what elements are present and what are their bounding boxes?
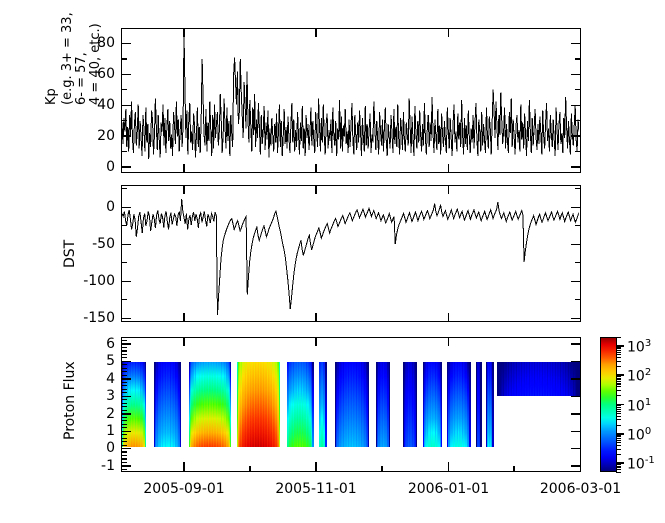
x-tick-major [183, 462, 185, 471]
y-tick-minor [122, 424, 127, 425]
colorbar-tick-label: 102 [627, 366, 651, 384]
y-tick-minor [122, 445, 127, 446]
y-tick-major [122, 135, 131, 136]
y-tick-minor-right [575, 151, 580, 152]
y-tick-minor [122, 378, 127, 379]
panel-dst [121, 185, 581, 322]
heatmap-cell [416, 362, 418, 447]
x-tick-major-top [448, 29, 450, 37]
y-tick-minor [122, 382, 127, 383]
y-tick-major-right [571, 318, 580, 319]
x-tick-major [448, 462, 450, 471]
y-tick-minor [122, 441, 127, 442]
kp-timeseries [122, 29, 579, 171]
y-tick-minor-right [575, 58, 580, 59]
heatmap-band [486, 362, 493, 447]
y-tick-major [122, 281, 131, 282]
heatmap-band [154, 362, 181, 447]
y-tick-major-right [571, 166, 580, 167]
colorbar-tick-minor [616, 413, 621, 414]
colorbar-tick-minor [616, 469, 621, 470]
heatmap-band [335, 362, 369, 447]
heatmap-band [237, 362, 280, 447]
y-tick-minor-right [575, 120, 580, 121]
y-tick-minor [122, 299, 127, 300]
colorbar-tick-minor [616, 445, 621, 446]
y-tick-minor [122, 262, 127, 263]
colorbar [600, 337, 617, 472]
y-tick-major-right [571, 413, 580, 414]
y-tick-minor-right [575, 262, 580, 263]
colorbar-tick-minor [616, 395, 621, 396]
dst-timeseries [122, 186, 579, 320]
y-tick-major-right [571, 135, 580, 136]
heatmap-cell [441, 362, 443, 447]
y-tick-major-right [571, 431, 580, 432]
y-tick-minor [122, 357, 127, 358]
y-tick-minor [122, 361, 127, 362]
y-tick-minor [122, 364, 127, 365]
y-tick-minor [122, 448, 127, 449]
heatmap-cell [325, 362, 327, 447]
y-tick-minor [122, 458, 127, 459]
y-tick-major [122, 244, 131, 245]
heatmap-band [319, 362, 327, 447]
colorbar-tick-minor [616, 337, 621, 338]
kp-y-axis-label-line-2: 6- = 57, [74, 52, 89, 105]
colorbar-tick-minor [616, 381, 621, 382]
x-tick-major-top [580, 338, 582, 346]
y-tick-major-right [571, 343, 580, 344]
colorbar-tick-minor [616, 436, 621, 437]
dst-plot-area [122, 186, 580, 321]
heatmap-band [497, 362, 579, 396]
colorbar-tick-minor [616, 361, 621, 362]
y-tick-minor [122, 403, 127, 404]
y-tick-major [122, 207, 131, 208]
heatmap-cell [312, 362, 314, 447]
heatmap-cell [145, 362, 147, 447]
y-tick-minor [122, 431, 127, 432]
x-tick-label: 2005-11-01 [275, 482, 356, 496]
x-tick-major-top [183, 29, 185, 37]
y-tick-label: 0 [69, 200, 115, 214]
y-tick-minor [122, 371, 127, 372]
y-tick-minor [122, 225, 127, 226]
y-tick-major-right [571, 396, 580, 397]
y-tick-major [122, 74, 131, 75]
x-tick-major [580, 313, 582, 321]
y-tick-minor [122, 385, 127, 386]
x-tick-major-top [183, 186, 185, 194]
colorbar-tick-minor [616, 464, 621, 465]
y-tick-minor-right [575, 225, 580, 226]
heatmap-band [189, 362, 231, 447]
y-tick-minor [122, 417, 127, 418]
y-tick-major-right [571, 378, 580, 379]
y-tick-minor [122, 340, 127, 341]
y-tick-label: 6 [69, 337, 115, 351]
x-tick-minor [249, 466, 250, 471]
y-tick-major [122, 105, 131, 106]
colorbar-tick-minor [616, 449, 621, 450]
panel-kp [121, 28, 581, 173]
heatmap-cell [279, 362, 281, 447]
y-tick-minor [122, 410, 127, 411]
x-tick-major-top [580, 29, 582, 37]
y-tick-major-right [571, 448, 580, 449]
y-tick-minor [122, 151, 127, 152]
heatmap-cell [368, 362, 370, 447]
kp-y-axis-label-line-0: Kp [44, 88, 59, 105]
y-tick-major [122, 43, 131, 44]
y-tick-minor [122, 89, 127, 90]
colorbar-tick-minor [616, 442, 621, 443]
y-tick-label: -100 [69, 274, 115, 288]
y-tick-minor [122, 375, 127, 376]
x-tick-label: 2006-03-01 [540, 482, 621, 496]
y-tick-major-right [571, 105, 580, 106]
y-tick-minor [122, 188, 127, 189]
x-tick-major [315, 313, 317, 321]
y-tick-label: -1 [69, 459, 115, 473]
colorbar-tick-minor [616, 440, 621, 441]
x-tick-major [448, 164, 450, 172]
colorbar-tick-minor [616, 405, 621, 406]
heatmap-cell [492, 362, 494, 447]
y-tick-major-right [571, 244, 580, 245]
colorbar-tick-minor [616, 390, 621, 391]
colorbar-tick-minor [616, 466, 621, 467]
y-tick-minor [122, 58, 127, 59]
heatmap-cell [480, 362, 482, 447]
y-tick-major [122, 318, 131, 319]
y-tick-minor-right [575, 89, 580, 90]
y-tick-minor [122, 392, 127, 393]
y-tick-minor [122, 455, 127, 456]
heatmap-band [287, 362, 314, 447]
x-tick-major-top [315, 186, 317, 194]
heatmap-band [476, 362, 481, 447]
y-tick-major-right [571, 281, 580, 282]
y-tick-minor [122, 368, 127, 369]
heatmap-band [376, 362, 390, 447]
x-tick-minor [513, 466, 514, 471]
figure-root: 020406080 Kp(e.g. 3+ = 33,6- = 57,4 = 40… [0, 0, 665, 523]
colorbar-tick-minor [616, 407, 621, 408]
y-tick-label: 20 [69, 129, 115, 143]
kp-y-axis-label-line-1: (e.g. 3+ = 33, [60, 12, 75, 105]
x-tick-label: 2006-01-01 [408, 482, 489, 496]
colorbar-tick-minor [616, 438, 621, 439]
proton-flux-heatmap [122, 338, 580, 471]
y-tick-minor [122, 451, 127, 452]
x-tick-major-top [183, 338, 185, 346]
x-tick-minor [381, 466, 382, 471]
x-tick-label: 2005-09-01 [143, 482, 224, 496]
colorbar-tick-minor [616, 472, 621, 473]
y-tick-minor [122, 120, 127, 121]
x-tick-major [183, 313, 185, 321]
y-tick-minor [122, 396, 127, 397]
y-tick-minor [122, 350, 127, 351]
y-tick-minor [122, 469, 127, 470]
x-tick-major [315, 462, 317, 471]
x-tick-major [183, 164, 185, 172]
x-tick-major [580, 164, 582, 172]
x-tick-major [580, 462, 582, 471]
y-tick-label: -150 [69, 311, 115, 325]
y-tick-major-right [571, 465, 580, 466]
y-tick-minor [122, 389, 127, 390]
y-tick-minor [122, 406, 127, 407]
colorbar-tick-minor [616, 350, 621, 351]
y-tick-major-right [571, 43, 580, 44]
colorbar-tick-label: 101 [627, 396, 651, 414]
y-tick-major-right [571, 74, 580, 75]
colorbar-tick-minor [616, 411, 621, 412]
colorbar-tick-label: 100 [627, 425, 651, 443]
kp-plot-area [122, 29, 580, 172]
colorbar-tick-minor [616, 352, 621, 353]
dst-y-axis-label: DST [62, 240, 78, 268]
colorbar-tick-minor [616, 348, 621, 349]
y-tick-minor [122, 413, 127, 414]
heatmap-cell [230, 362, 232, 447]
colorbar-tick-minor [616, 454, 621, 455]
y-tick-major-right [571, 207, 580, 208]
x-tick-major-top [580, 186, 582, 194]
x-tick-major-top [315, 29, 317, 37]
colorbar-tick-minor [616, 383, 621, 384]
heatmap-band [403, 362, 417, 447]
colorbar-tick-minor [616, 419, 621, 420]
kp-y-axis-label-line-3: 4 = 40, etc.) [88, 23, 103, 105]
colorbar-tick-minor [616, 366, 621, 367]
colorbar-tick-minor [616, 435, 621, 436]
x-tick-major [315, 164, 317, 172]
x-tick-major-top [315, 338, 317, 346]
colorbar-tick-minor [616, 379, 621, 380]
y-tick-minor [122, 434, 127, 435]
colorbar-tick-label: 10-1 [627, 454, 655, 472]
heatmap-band [447, 362, 470, 447]
heatmap-cell [180, 362, 182, 447]
heatmap-cell [469, 362, 471, 447]
x-tick-major-top [448, 186, 450, 194]
colorbar-tick-minor [616, 467, 621, 468]
proton-flux-y-axis-label: Proton Flux [62, 361, 78, 440]
y-tick-major-right [571, 361, 580, 362]
y-tick-minor [122, 354, 127, 355]
colorbar-tick-minor [616, 416, 621, 417]
x-tick-major [448, 313, 450, 321]
colorbar-tick-minor [616, 425, 621, 426]
y-tick-minor [122, 462, 127, 463]
y-tick-minor [122, 343, 127, 344]
y-tick-minor [122, 427, 127, 428]
colorbar-tick-label: 103 [627, 337, 651, 355]
y-tick-minor [122, 438, 127, 439]
heatmap-band [423, 362, 442, 447]
x-tick-major-top [448, 338, 450, 346]
colorbar-tick-minor [616, 347, 621, 348]
heatmap-cell [389, 362, 391, 447]
colorbar-tick-minor [616, 357, 621, 358]
colorbar-tick-minor [616, 378, 621, 379]
y-tick-label: 0 [69, 441, 115, 455]
y-tick-minor [122, 399, 127, 400]
colorbar-tick-minor [616, 409, 621, 410]
y-tick-minor [122, 465, 127, 466]
colorbar-tick-minor [616, 376, 621, 377]
y-tick-minor-right [575, 299, 580, 300]
y-tick-minor [122, 347, 127, 348]
colorbar-tick-minor [616, 354, 621, 355]
y-tick-label: 0 [69, 160, 115, 174]
colorbar-tick-minor [616, 386, 621, 387]
panel-proton-flux [121, 337, 581, 472]
y-tick-minor [122, 420, 127, 421]
y-tick-major [122, 166, 131, 167]
